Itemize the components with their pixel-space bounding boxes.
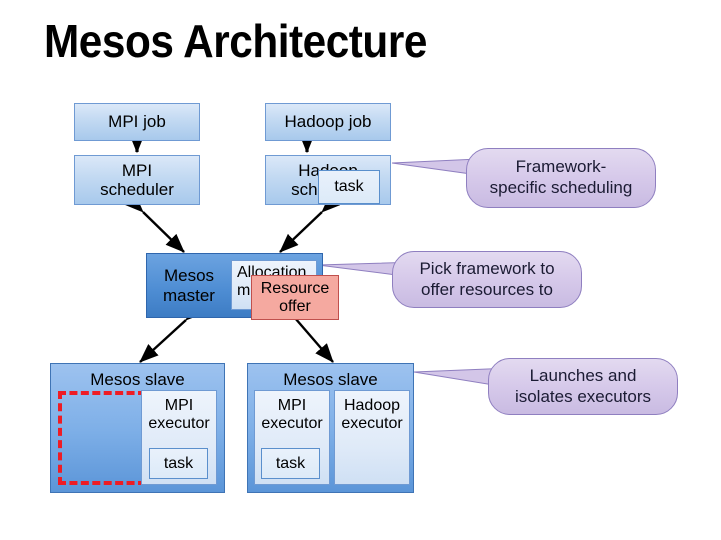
callout-2-line2: offer resources to (421, 280, 553, 301)
callout-3-line2: isolates executors (515, 387, 651, 408)
hadoop-scheduler-task-box[interactable]: task (318, 170, 380, 204)
mpi-executor-label-line1: MPI (165, 397, 193, 415)
callout-2-line1: Pick framework to (419, 259, 554, 280)
hadoop-executor-label-line2: executor (341, 415, 402, 433)
resource-offer-label-line1: Resource (261, 280, 329, 298)
callout-3-line1: Launches and (530, 366, 637, 387)
resource-offer-label-line2: offer (279, 298, 311, 316)
mesos-slave-right-label: Mesos slave (283, 370, 377, 389)
mesos-master-label-line2: master (163, 286, 215, 305)
hadoop-job-label: Hadoop job (285, 112, 372, 131)
mpi-job-label: MPI job (108, 112, 166, 131)
hadoop-scheduler-task-label: task (334, 178, 363, 196)
mpi-job-box[interactable]: MPI job (74, 103, 200, 141)
empty-resource-slot-highlight (58, 391, 146, 485)
mesos-slave-right-mpi-task-box[interactable]: task (261, 448, 320, 479)
mpi-executor-label-line2: executor (148, 415, 209, 433)
mpi-scheduler-label-line1: MPI (122, 161, 152, 180)
resource-offer-box[interactable]: Resource offer (251, 275, 339, 320)
mpi-task-label: task (164, 455, 193, 473)
mesos-master-label-line1: Mesos (164, 266, 214, 285)
page-title: Mesos Architecture (44, 14, 427, 68)
mpi-task-right-label: task (276, 455, 305, 473)
mesos-slave-left-label: Mesos slave (90, 370, 184, 389)
callout-1-line2: specific scheduling (490, 178, 633, 199)
slide-canvas: Mesos Architecture MPI jo (0, 0, 721, 540)
mesos-master-label: Mesos master (147, 266, 231, 304)
callout-framework-specific-scheduling[interactable]: Framework- specific scheduling (466, 148, 656, 208)
mesos-slave-left-mpi-task-box[interactable]: task (149, 448, 208, 479)
mpi-executor-right-label-line2: executor (261, 415, 322, 433)
callout-launches-isolates[interactable]: Launches and isolates executors (488, 358, 678, 415)
hadoop-job-box[interactable]: Hadoop job (265, 103, 391, 141)
callout-1-line1: Framework- (516, 157, 607, 178)
hadoop-executor-label-line1: Hadoop (344, 397, 400, 415)
callout-pick-framework[interactable]: Pick framework to offer resources to (392, 251, 582, 308)
mesos-slave-right-hadoop-executor-box[interactable]: Hadoop executor (334, 390, 410, 485)
mpi-scheduler-box[interactable]: MPI scheduler (74, 155, 200, 205)
mpi-executor-right-label-line1: MPI (278, 397, 306, 415)
mpi-scheduler-label-line2: scheduler (100, 180, 174, 199)
